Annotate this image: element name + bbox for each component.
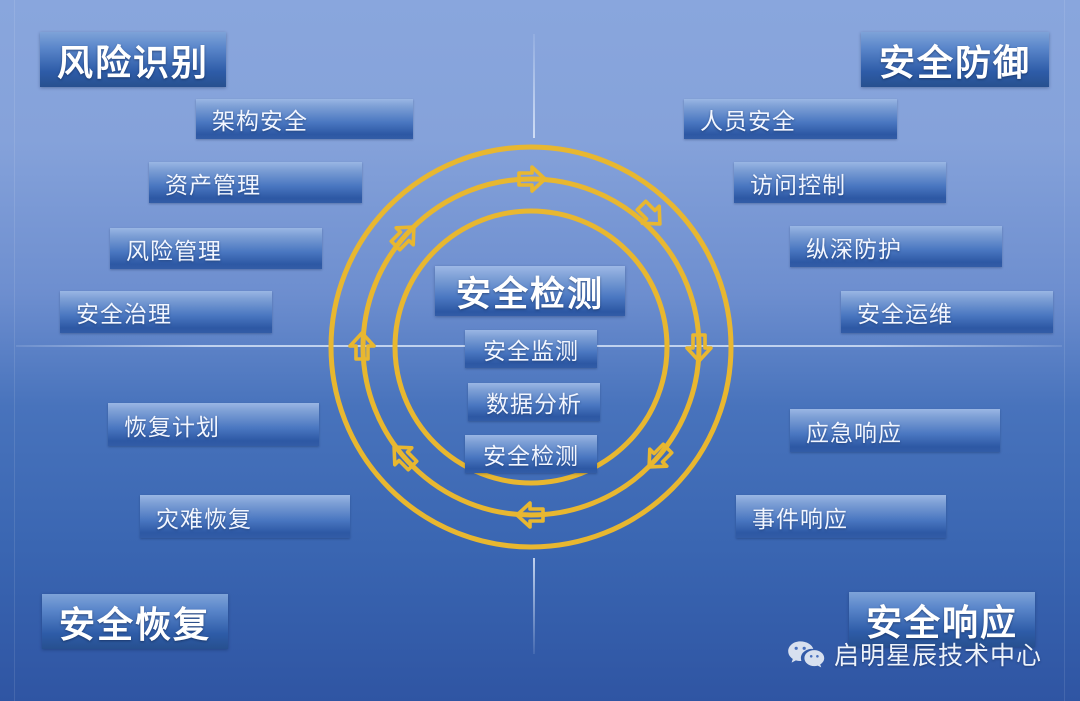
panel-left-edge (14, 0, 15, 701)
flow-arrow-s (517, 503, 543, 527)
quadrant-title-security-defense[interactable]: 安全防御 (861, 32, 1049, 87)
center-chip-data-analysis[interactable]: 数据分析 (468, 383, 600, 421)
chip-incident-response[interactable]: 事件响应 (736, 495, 946, 538)
flow-arrow-se (641, 440, 676, 475)
chip-security-operations[interactable]: 安全运维 (841, 291, 1053, 333)
chip-emergency-response[interactable]: 应急响应 (790, 409, 1000, 452)
vertical-divider-bottom (533, 558, 535, 654)
watermark: 启明星辰技术中心 (786, 636, 1042, 672)
quadrant-title-risk-identification[interactable]: 风险识别 (40, 32, 226, 87)
chip-access-control[interactable]: 访问控制 (734, 162, 946, 203)
watermark-label: 启明星辰技术中心 (834, 636, 1042, 672)
chip-recovery-plan[interactable]: 恢复计划 (108, 403, 319, 446)
center-chip-security-detection[interactable]: 安全检测 (465, 435, 597, 473)
chip-architecture-security[interactable]: 架构安全 (196, 99, 413, 139)
chip-defense-in-depth[interactable]: 纵深防护 (790, 226, 1002, 267)
flow-arrow-e (687, 335, 711, 361)
wechat-icon (786, 639, 826, 669)
flow-arrow-n (519, 167, 545, 191)
chip-asset-management[interactable]: 资产管理 (149, 162, 362, 203)
quadrant-title-security-recovery[interactable]: 安全恢复 (42, 594, 228, 649)
diagram-canvas: 风险识别 安全防御 安全恢复 安全响应 架构安全 资产管理 风险管理 安全治理 … (0, 0, 1080, 701)
panel-right-edge (1064, 0, 1065, 701)
vertical-divider-top (533, 34, 535, 138)
chip-personnel-security[interactable]: 人员安全 (684, 99, 897, 139)
chip-risk-management[interactable]: 风险管理 (110, 228, 322, 269)
center-title-security-detection[interactable]: 安全检测 (435, 266, 625, 316)
chip-security-governance[interactable]: 安全治理 (60, 291, 272, 333)
flow-arrow-sw (386, 439, 421, 474)
flow-arrow-ne (633, 197, 668, 232)
flow-arrow-nw (387, 219, 422, 254)
center-chip-security-monitoring[interactable]: 安全监测 (465, 330, 597, 368)
chip-disaster-recovery[interactable]: 灾难恢复 (140, 495, 350, 538)
